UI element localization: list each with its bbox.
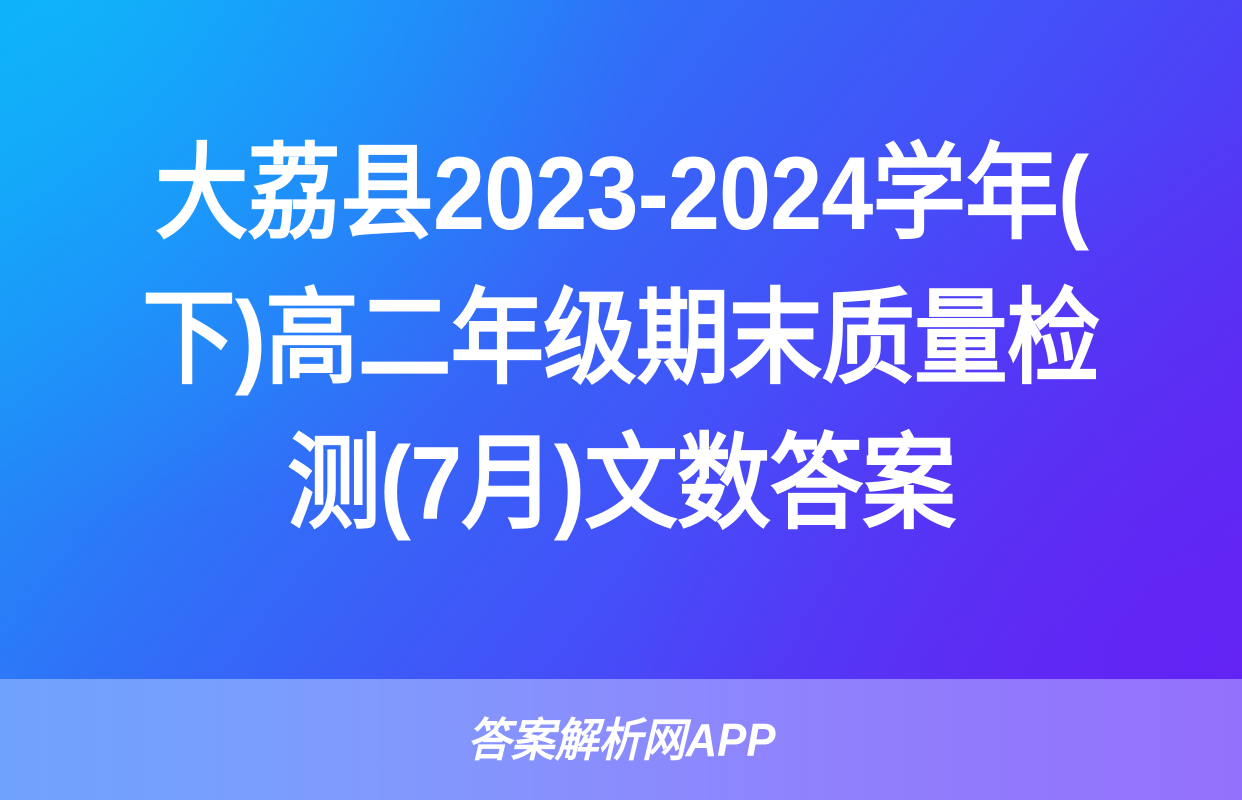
poster-title: 大荔县2023-2024学年( 下)高二年级期末质量检 测(7月)文数答案 (0, 0, 1242, 679)
app-brand-label: 答案解析网APP (467, 717, 775, 763)
title-line-3: 测(7月)文数答案 (287, 412, 955, 557)
poster-root: 大荔县2023-2024学年( 下)高二年级期末质量检 测(7月)文数答案 答案… (0, 0, 1242, 800)
footer-band: 答案解析网APP (0, 679, 1242, 800)
title-line-1: 大荔县2023-2024学年( (154, 122, 1087, 267)
title-line-2: 下)高二年级期末质量检 (142, 267, 1099, 412)
